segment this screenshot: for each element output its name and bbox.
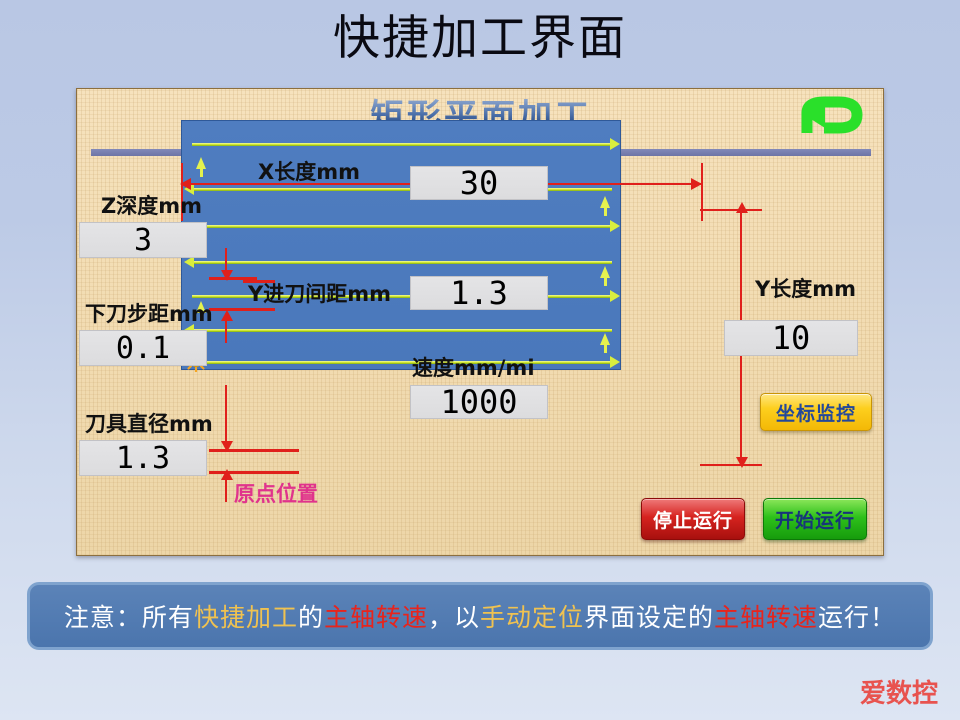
- note-part-8: 主轴转速: [714, 598, 818, 634]
- start-run-button[interactable]: 开始运行: [763, 498, 867, 540]
- plunge-step-input[interactable]: 0.1: [79, 330, 207, 366]
- tool-dia-reference-line-top: [209, 449, 299, 452]
- coordinate-monitor-button[interactable]: 坐标监控: [760, 393, 872, 431]
- y-step-tick-bottom: [243, 308, 275, 311]
- note-part-5: ，以: [428, 598, 480, 634]
- y-dimension-arrow-down: [736, 457, 748, 468]
- note-part-9: 运行！: [818, 598, 896, 634]
- x-length-input[interactable]: 30: [410, 166, 548, 200]
- note-part-1: 注意：所有: [64, 598, 194, 634]
- toolpath-pass: [192, 329, 612, 332]
- note-part-2: 快捷加工: [194, 598, 298, 634]
- note-banner: 注意：所有 快捷加工 的 主轴转速 ，以 手动定位 界面设定的 主轴转速 运行！: [27, 582, 933, 650]
- toolpath-pass: [192, 361, 612, 364]
- step-over-arrow: [600, 333, 610, 345]
- feed-speed-input[interactable]: 1000: [410, 385, 548, 419]
- plunge-step-label: 下刀步距mm: [85, 301, 213, 327]
- y-step-spacing-label: Y进刀间距mm: [248, 281, 391, 307]
- step-over-arrow: [600, 266, 610, 278]
- z-depth-label: Z深度mm: [101, 193, 202, 219]
- step-over-arrow: [600, 196, 610, 208]
- z-depth-input[interactable]: 3: [79, 222, 207, 258]
- toolpath-pass: [192, 143, 612, 146]
- tool-dia-dimension-line: [225, 385, 227, 447]
- tool-diameter-label: 刀具直径mm: [85, 411, 213, 437]
- step-over-arrow: [196, 157, 206, 169]
- plunge-step-dimension-arrow: [221, 310, 233, 321]
- y-extension-top: [700, 209, 762, 211]
- origin-dimension-arrow: [221, 469, 233, 480]
- y-length-label: Y长度mm: [755, 276, 856, 302]
- y-extension-bottom: [700, 464, 762, 466]
- note-part-7: 界面设定的: [584, 598, 714, 634]
- stop-run-button[interactable]: 停止运行: [641, 498, 745, 540]
- toolpath-pass: [192, 261, 612, 264]
- note-part-4: 主轴转速: [324, 598, 428, 634]
- note-part-6: 手动定位: [480, 598, 584, 634]
- toolpath-pass: [192, 225, 612, 228]
- origin-position-label: 原点位置: [234, 478, 318, 508]
- y-length-input[interactable]: 10: [724, 320, 858, 356]
- tool-diameter-input[interactable]: 1.3: [79, 440, 207, 476]
- x-length-label: X长度mm: [258, 159, 360, 185]
- feed-speed-label: 速度mm/mi: [412, 355, 535, 381]
- x-extension-right: [701, 163, 703, 221]
- note-part-3: 的: [298, 598, 324, 634]
- work-area-preview: [181, 120, 621, 370]
- return-arrow-icon[interactable]: [791, 95, 869, 141]
- toolpath-pass: [192, 188, 612, 191]
- y-step-spacing-input[interactable]: 1.3: [410, 276, 548, 310]
- page-title: 快捷加工界面: [0, 8, 960, 70]
- watermark: 爱数控: [860, 673, 938, 710]
- y-dimension-arrow-up: [736, 202, 748, 213]
